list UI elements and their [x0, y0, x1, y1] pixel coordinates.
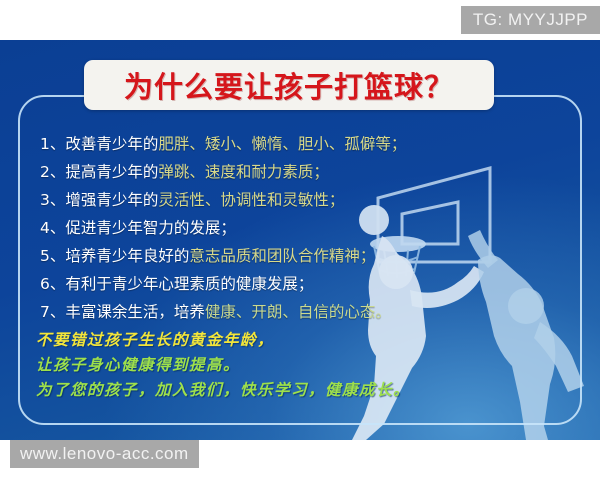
- list-item-accent: 灵活性、协调性和灵敏性；: [158, 191, 344, 209]
- list-item-primary: 有利于青少年心理素质的健康发展；: [65, 275, 313, 293]
- list-item: 4、促进青少年智力的发展；: [40, 214, 540, 242]
- list-item-accent: 意志品质和团队合作精神；: [189, 247, 375, 265]
- list-item-accent: 肥胖、矮小、懒惰、胆小、孤僻等；: [158, 135, 406, 153]
- site-watermark: www.lenovo-acc.com: [10, 440, 199, 468]
- benefits-list: 1、改善青少年的肥胖、矮小、懒惰、胆小、孤僻等； 2、提高青少年的弹跳、速度和耐…: [40, 130, 540, 326]
- list-item: 3、增强青少年的灵活性、协调性和灵敏性；: [40, 186, 540, 214]
- poster-board: 为什么要让孩子打篮球？ 1、改善青少年的肥胖、矮小、懒惰、胆小、孤僻等； 2、提…: [0, 40, 600, 440]
- list-item-primary: 丰富课余生活，培养: [65, 303, 205, 321]
- list-item-primary: 提高青少年的: [65, 163, 158, 181]
- list-item-number: 4、: [40, 219, 65, 237]
- list-item-number: 3、: [40, 191, 65, 209]
- poster-root: TG: MYYJJPP: [0, 0, 600, 480]
- list-item: 1、改善青少年的肥胖、矮小、懒惰、胆小、孤僻等；: [40, 130, 540, 158]
- list-item: 5、培养青少年良好的意志品质和团队合作精神；: [40, 242, 540, 270]
- list-item-primary: 培养青少年良好的: [65, 247, 189, 265]
- list-item-accent: 健康、开朗、自信的心态。: [205, 303, 391, 321]
- list-item-number: 1、: [40, 135, 65, 153]
- title-card: 为什么要让孩子打篮球？: [84, 60, 494, 110]
- slogan-line: 不要错过孩子生长的黄金年龄，: [36, 328, 496, 353]
- telegram-watermark-label: TG: MYYJJPP: [473, 10, 588, 30]
- telegram-watermark: TG: MYYJJPP: [461, 6, 600, 34]
- list-item: 2、提高青少年的弹跳、速度和耐力素质；: [40, 158, 540, 186]
- list-item-number: 7、: [40, 303, 65, 321]
- list-item: 6、有利于青少年心理素质的健康发展；: [40, 270, 540, 298]
- list-item-primary: 改善青少年的: [65, 135, 158, 153]
- list-item-number: 6、: [40, 275, 65, 293]
- list-item: 7、丰富课余生活，培养健康、开朗、自信的心态。: [40, 298, 540, 326]
- list-item-number: 5、: [40, 247, 65, 265]
- list-item-primary: 促进青少年智力的发展；: [65, 219, 236, 237]
- list-item-accent: 弹跳、速度和耐力素质；: [158, 163, 329, 181]
- list-item-number: 2、: [40, 163, 65, 181]
- slogan-line: 为了您的孩子，加入我们，快乐学习，健康成长。: [36, 378, 496, 403]
- slogan-line: 让孩子身心健康得到提高。: [36, 353, 496, 378]
- page-title: 为什么要让孩子打篮球？: [124, 64, 454, 106]
- site-watermark-label: www.lenovo-acc.com: [20, 444, 189, 464]
- list-item-primary: 增强青少年的: [65, 191, 158, 209]
- slogan-block: 不要错过孩子生长的黄金年龄， 让孩子身心健康得到提高。 为了您的孩子，加入我们，…: [36, 328, 496, 403]
